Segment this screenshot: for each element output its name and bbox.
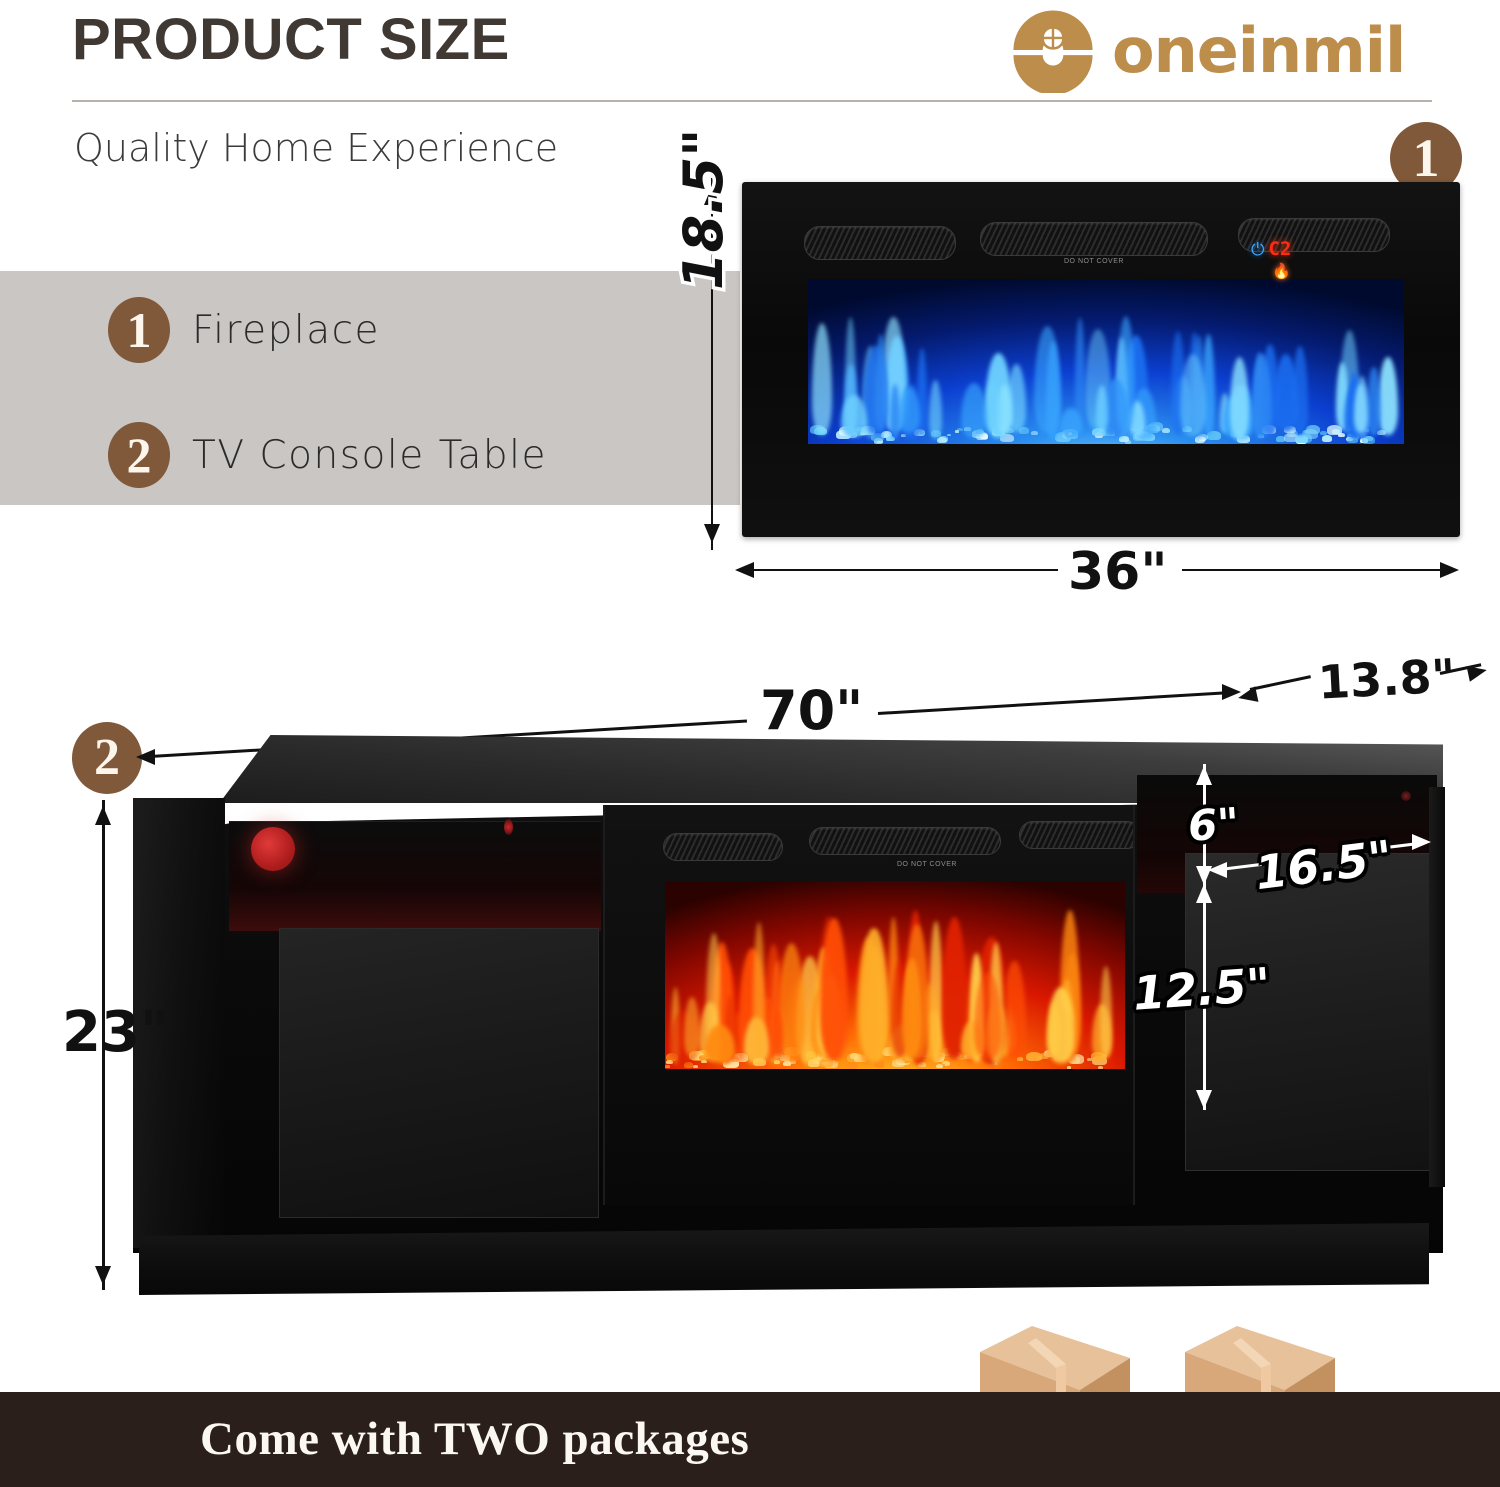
console-width-label: 70"	[760, 679, 863, 742]
console-fireplace-insert: DO NOT COVER	[603, 805, 1135, 1205]
fireplace-vent-left-icon	[804, 226, 956, 260]
console-depth-line-left	[1250, 675, 1311, 691]
door-height-arrow-up	[1196, 884, 1212, 903]
banner-text: Come with TWO packages	[200, 1412, 749, 1466]
title-divider	[72, 100, 1432, 102]
legend-item-tv-console: 2 TV Console Table	[108, 422, 547, 488]
console-right-side-panel	[1429, 787, 1445, 1187]
legend-badge-1: 1	[108, 297, 170, 363]
fireplace-led-display: ⏻ C2	[1251, 238, 1291, 260]
fireplace-flame-glass	[808, 279, 1404, 444]
flame-icon: 🔥	[1272, 262, 1291, 280]
insert-flame-glass	[665, 881, 1125, 1069]
fireplace-unit-image: DO NOT COVER ⏻ C2 🔥	[742, 182, 1460, 537]
console-left-drawer	[279, 928, 599, 1218]
insert-vent-caption: DO NOT COVER	[897, 861, 957, 868]
page-subtitle: Quality Home Experience	[74, 126, 558, 170]
fireplace-vent-caption: DO NOT COVER	[1064, 258, 1124, 265]
insert-vent-left-icon	[663, 833, 783, 861]
fp-height-arrow-down	[704, 524, 720, 543]
insert-vent-right-icon	[1019, 821, 1135, 849]
console-depth-arrow-right	[1467, 662, 1489, 682]
product-size-infographic: PRODUCT SIZE Quality Home Experience one…	[0, 0, 1500, 1487]
led-light-icon	[251, 827, 295, 871]
fireplace-vent-center-icon	[980, 222, 1208, 256]
brand-logo: oneinmil	[1010, 8, 1405, 92]
temperature-digits: C2	[1268, 238, 1291, 260]
console-width-line-right	[878, 691, 1230, 715]
legend-label-fireplace: Fireplace	[192, 308, 380, 353]
fp-width-arrow-right	[1440, 562, 1459, 578]
legend-item-fireplace: 1 Fireplace	[108, 297, 380, 363]
legend-label-tv-console: TV Console Table	[192, 433, 547, 478]
callout-badge-2-number: 2	[72, 722, 142, 794]
console-height-label: 23"	[62, 1000, 169, 1065]
power-icon: ⏻	[1251, 241, 1264, 258]
console-height-arrow-down	[95, 1266, 111, 1285]
house-circle-logo-icon	[1010, 7, 1096, 93]
fp-width-line-left	[748, 569, 1058, 571]
console-depth-arrow-left	[1237, 686, 1259, 706]
console-depth-label: 13.8"	[1317, 648, 1457, 709]
fp-width-label: 36"	[1068, 542, 1167, 602]
page-title: PRODUCT SIZE	[72, 6, 510, 73]
fp-width-line-right	[1182, 569, 1444, 571]
tv-console-image: DO NOT COVER	[133, 735, 1443, 1295]
door-height-arrow-down	[1196, 1090, 1212, 1109]
legend-badge-2: 2	[108, 422, 170, 488]
shelf-gap-label: 6"	[1186, 798, 1240, 850]
fp-width-arrow-left	[735, 562, 754, 578]
callout-badge-console: 2	[72, 722, 142, 794]
shelf-gap-arrow-up	[1196, 766, 1212, 785]
fp-height-label: 18.5"	[672, 129, 735, 290]
door-height-label: 12.5"	[1131, 957, 1272, 1020]
insert-vent-center-icon	[809, 827, 1001, 855]
door-width-arrow-right	[1412, 834, 1431, 850]
shelf-led-dot-icon	[504, 819, 513, 835]
right-led-dot-icon	[1401, 791, 1411, 801]
console-height-arrow-up	[95, 806, 111, 825]
door-width-arrow-left	[1208, 862, 1227, 878]
brand-name: oneinmil	[1112, 14, 1405, 87]
